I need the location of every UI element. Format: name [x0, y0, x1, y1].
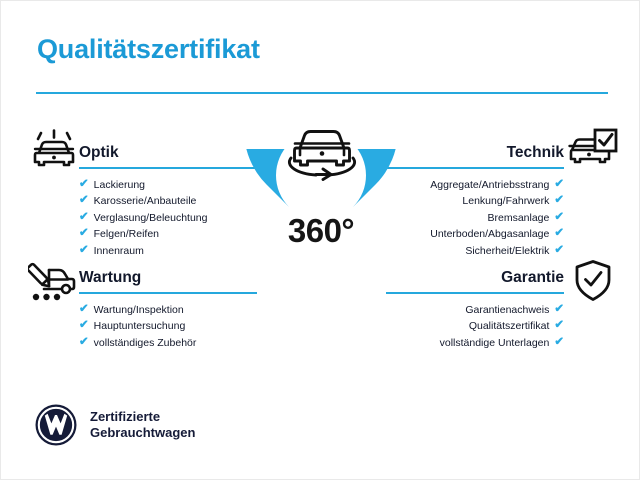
list-item: vollständige Unterlagen ✔ — [386, 335, 564, 351]
section-technik-header: Technik — [386, 139, 564, 169]
section-wartung-list: ✔ Wartung/Inspektion ✔ Hauptuntersuchung… — [79, 302, 257, 351]
check-icon: ✔ — [79, 179, 89, 191]
list-item: Bremsanlage ✔ — [386, 210, 564, 226]
vw-logo-icon — [34, 403, 78, 447]
car-checkbox-icon — [568, 128, 618, 177]
list-item-label: Aggregate/Antriebsstrang — [430, 177, 549, 193]
list-item-label: vollständige Unterlagen — [440, 335, 550, 351]
check-icon: ✔ — [79, 337, 89, 349]
list-item-label: Qualitätszertifikat — [469, 318, 550, 334]
section-technik-list: Aggregate/Antriebsstrang ✔ Lenkung/Fahrw… — [386, 177, 564, 259]
shield-check-icon — [573, 259, 613, 308]
list-item-label: Verglasung/Beleuchtung — [94, 210, 208, 226]
svg-text:Gebrauchtwagen-Check: Gebrauchtwagen-Check — [246, 243, 395, 313]
list-item-label: Lenkung/Fahrwerk — [462, 193, 549, 209]
list-item: ✔ Innenraum — [79, 243, 257, 259]
section-wartung-divider — [79, 292, 257, 295]
check-icon: ✔ — [554, 179, 564, 191]
section-garantie-header: Garantie — [386, 264, 564, 294]
check-icon: ✔ — [79, 195, 89, 207]
list-item: ✔ Lackierung — [79, 177, 257, 193]
list-item: Aggregate/Antriebsstrang ✔ — [386, 177, 564, 193]
list-item: ✔ Hauptuntersuchung — [79, 318, 257, 334]
list-item: ✔ Karosserie/Anbauteile — [79, 193, 257, 209]
footer-brand: Zertifizierte Gebrauchtwagen — [34, 403, 195, 447]
section-garantie: Garantie Garantienachweis ✔ Qualitätszer… — [386, 264, 564, 351]
list-item-label: Karosserie/Anbauteile — [94, 193, 197, 209]
check-icon: ✔ — [554, 337, 564, 349]
section-optik-title: Optik — [79, 144, 119, 162]
check-icon: ✔ — [79, 212, 89, 224]
badge-curved-label: Gebrauchtwagen-Check — [246, 243, 395, 313]
list-item: ✔ Felgen/Reifen — [79, 226, 257, 242]
check-icon: ✔ — [79, 320, 89, 332]
check-icon: ✔ — [554, 212, 564, 224]
section-technik: Technik Aggregate/Antriebsstrang ✔ Lenku… — [386, 139, 564, 259]
section-wartung-title: Wartung — [79, 269, 141, 287]
list-item-label: Sicherheit/Elektrik — [465, 243, 549, 259]
check-icon: ✔ — [554, 228, 564, 240]
check-icon: ✔ — [554, 245, 564, 257]
list-item: ✔ Verglasung/Beleuchtung — [79, 210, 257, 226]
list-item-label: Felgen/Reifen — [94, 226, 159, 242]
section-technik-divider — [386, 167, 564, 170]
list-item-label: Innenraum — [94, 243, 144, 259]
section-wartung: Wartung ✔ Wartung/Inspektion ✔ Hauptunte… — [79, 264, 257, 351]
list-item-label: Unterboden/Abgasanlage — [430, 226, 549, 242]
check-icon: ✔ — [79, 304, 89, 316]
list-item: ✔ Wartung/Inspektion — [79, 302, 257, 318]
list-item: Lenkung/Fahrwerk ✔ — [386, 193, 564, 209]
section-garantie-divider — [386, 292, 564, 295]
list-item-label: vollständiges Zubehör — [94, 335, 197, 351]
list-item: Garantienachweis ✔ — [386, 302, 564, 318]
list-item: Qualitätszertifikat ✔ — [386, 318, 564, 334]
section-optik-header: Optik — [79, 139, 257, 169]
title-divider — [36, 92, 608, 94]
section-wartung-header: Wartung — [79, 264, 257, 294]
check-icon: ✔ — [554, 304, 564, 316]
section-optik-divider — [79, 167, 257, 170]
check-icon: ✔ — [554, 320, 564, 332]
check-icon: ✔ — [79, 228, 89, 240]
car-shine-icon — [30, 129, 78, 178]
car-rotate-360-icon — [280, 117, 364, 189]
list-item: ✔ vollständiges Zubehör — [79, 335, 257, 351]
section-garantie-title: Garantie — [501, 269, 564, 287]
check-icon: ✔ — [554, 195, 564, 207]
check-icon: ✔ — [79, 245, 89, 257]
list-item-label: Hauptuntersuchung — [94, 318, 186, 334]
section-technik-title: Technik — [507, 144, 564, 162]
section-garantie-list: Garantienachweis ✔ Qualitätszertifikat ✔… — [386, 302, 564, 351]
footer-brand-text: Zertifizierte Gebrauchtwagen — [90, 409, 195, 441]
certificate-page: Qualitätszertifikat Optik ✔ Lackierung — [0, 0, 640, 480]
list-item-label: Garantienachweis — [465, 302, 549, 318]
page-title: Qualitätszertifikat — [37, 34, 260, 65]
list-item: Sicherheit/Elektrik ✔ — [386, 243, 564, 259]
section-optik-list: ✔ Lackierung ✔ Karosserie/Anbauteile ✔ V… — [79, 177, 257, 259]
list-item-label: Bremsanlage — [487, 210, 549, 226]
section-optik: Optik ✔ Lackierung ✔ Karosserie/Anbautei… — [79, 139, 257, 259]
car-service-tool-icon — [28, 259, 78, 310]
list-item-label: Wartung/Inspektion — [94, 302, 184, 318]
list-item-label: Lackierung — [94, 177, 145, 193]
list-item: Unterboden/Abgasanlage ✔ — [386, 226, 564, 242]
